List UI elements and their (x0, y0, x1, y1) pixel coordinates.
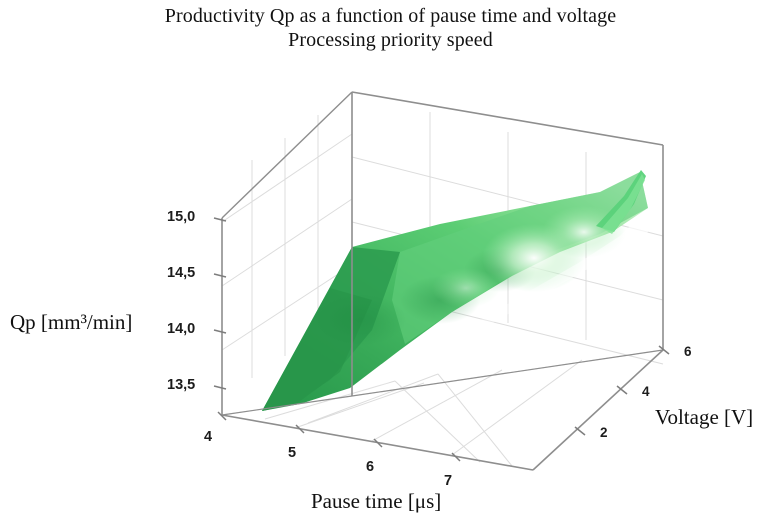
x-tick-label-6: 6 (366, 459, 374, 475)
x-tick-label-5: 5 (288, 445, 296, 461)
x-axis-title: Pause time [μs] (311, 489, 441, 514)
z-tick-14-5 (214, 274, 226, 277)
x-tick-label-7: 7 (444, 473, 452, 489)
z-tick-label-14-5: 14,5 (167, 265, 195, 281)
x-tick-label-4: 4 (204, 429, 212, 445)
y-tick-2 (575, 427, 585, 435)
z-tick-14-0 (214, 330, 226, 333)
y-tick-label-6: 6 (684, 344, 692, 359)
surface-mesh (262, 170, 648, 412)
z-axis-ticks (214, 218, 226, 389)
z-tick-label-13-5: 13,5 (167, 377, 195, 393)
y-axis-title: Voltage [V] (655, 405, 753, 430)
chart-figure: Productivity Qp as a function of pause t… (0, 0, 781, 528)
z-tick-13-5 (214, 386, 226, 389)
y-tick-label-4: 4 (642, 384, 650, 399)
z-tick-label-15-0: 15,0 (167, 209, 195, 225)
surface-highlight-tertiary (432, 268, 500, 308)
z-tick-15-0 (214, 218, 226, 221)
y-tick-label-2: 2 (600, 425, 608, 440)
z-tick-label-14-0: 14,0 (167, 321, 195, 337)
box-edge-top-left (222, 92, 352, 218)
z-axis-title: Qp [mm³/min] (10, 310, 132, 335)
surface-plot-canvas (0, 0, 781, 528)
box-edge-floor-front-right (533, 350, 663, 470)
surface-dimple-left (314, 294, 406, 346)
